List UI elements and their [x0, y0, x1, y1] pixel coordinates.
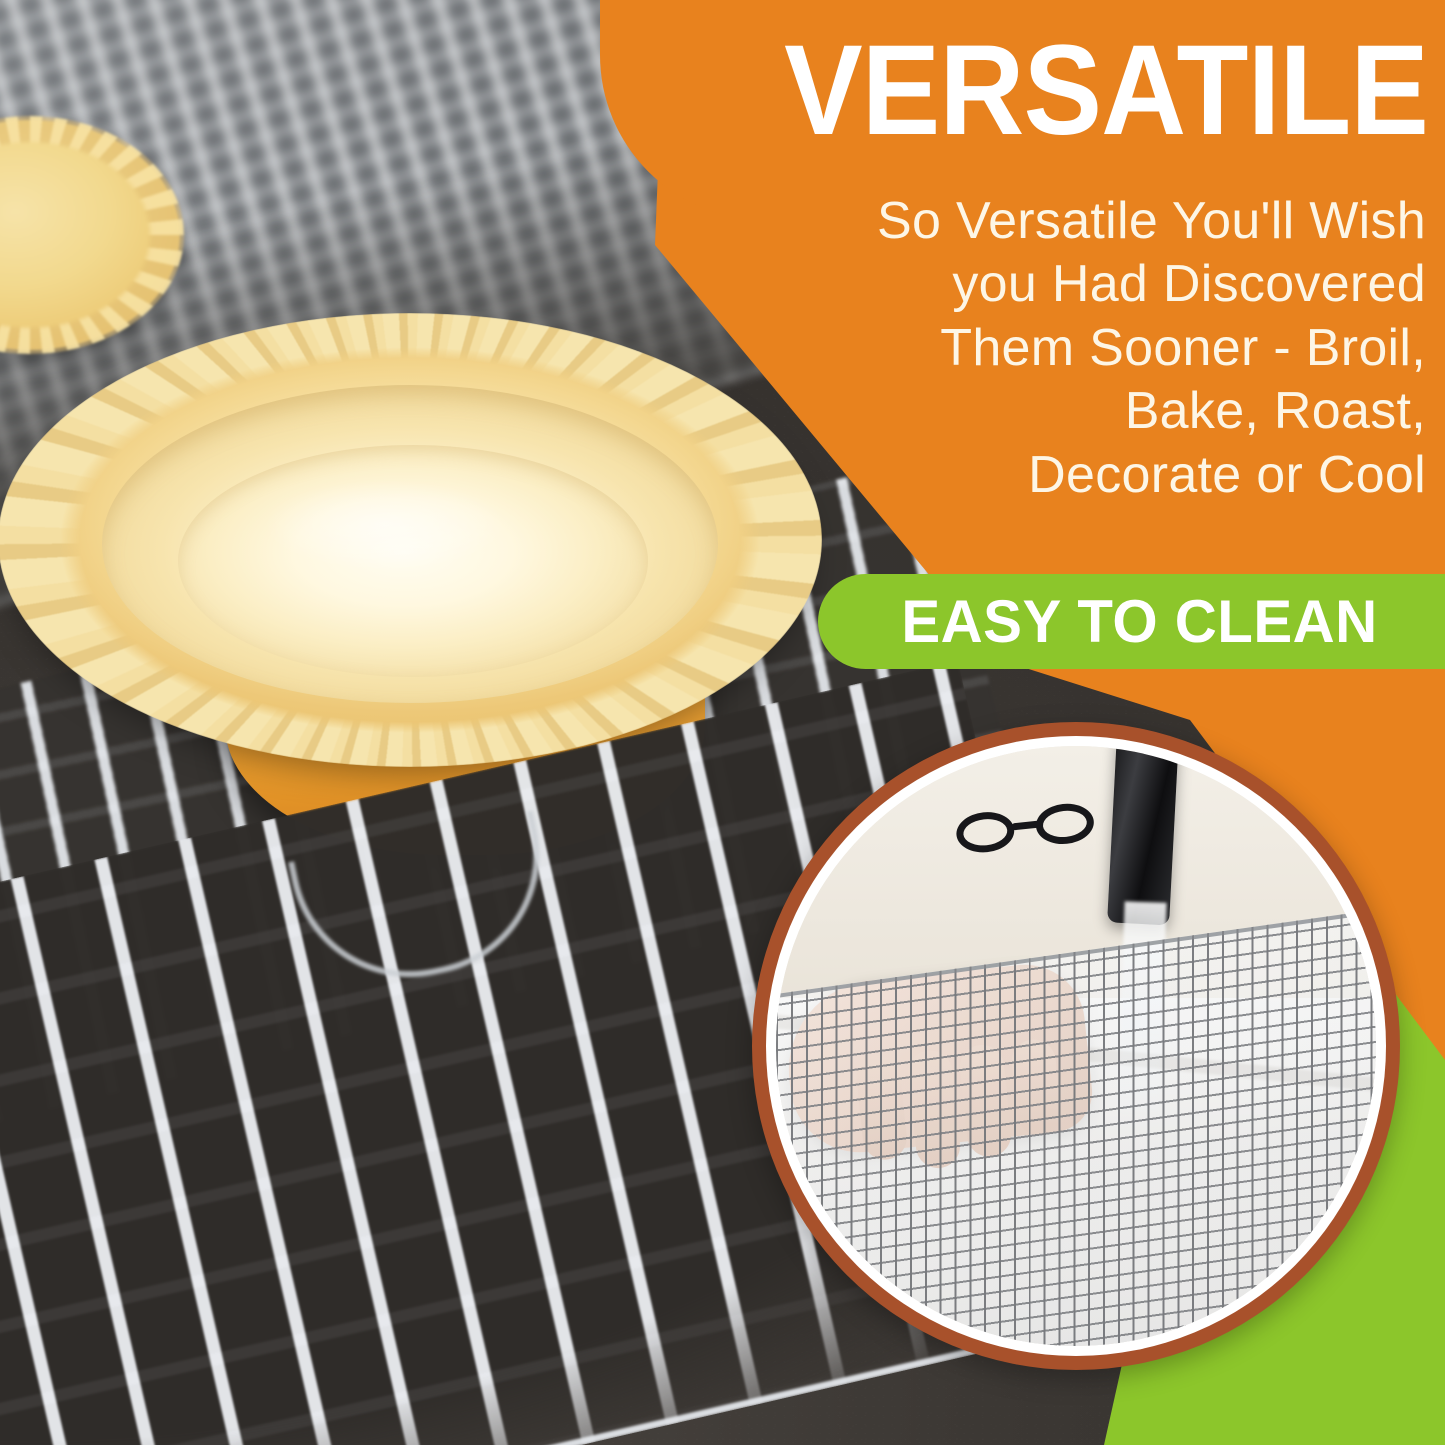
feature-description-line: Them Sooner - Broil, [700, 317, 1426, 380]
feature-description-line: So Versatile You'll Wish [700, 190, 1426, 253]
feature-description: So Versatile You'll Wish you Had Discove… [700, 190, 1426, 507]
feature-description-line: Decorate or Cool [700, 444, 1426, 507]
feature-description-line: Bake, Roast, [700, 380, 1426, 443]
feature-description-line: you Had Discovered [700, 253, 1426, 316]
page-title: VERSATILE [747, 26, 1428, 157]
product-feature-banner: VERSATILE So Versatile You'll Wish you H… [0, 0, 1445, 1445]
kitchen-faucet [1107, 746, 1179, 925]
inset-photo-cleaning [776, 746, 1376, 1346]
inset-photo-ring [752, 722, 1400, 1370]
easy-to-clean-badge: EASY TO CLEAN [818, 574, 1445, 669]
easy-to-clean-badge-label: EASY TO CLEAN [902, 587, 1378, 656]
eyeglasses-lens-left [954, 809, 1016, 855]
eyeglasses-lens-right [1034, 801, 1096, 847]
tart-highlight [225, 465, 545, 585]
